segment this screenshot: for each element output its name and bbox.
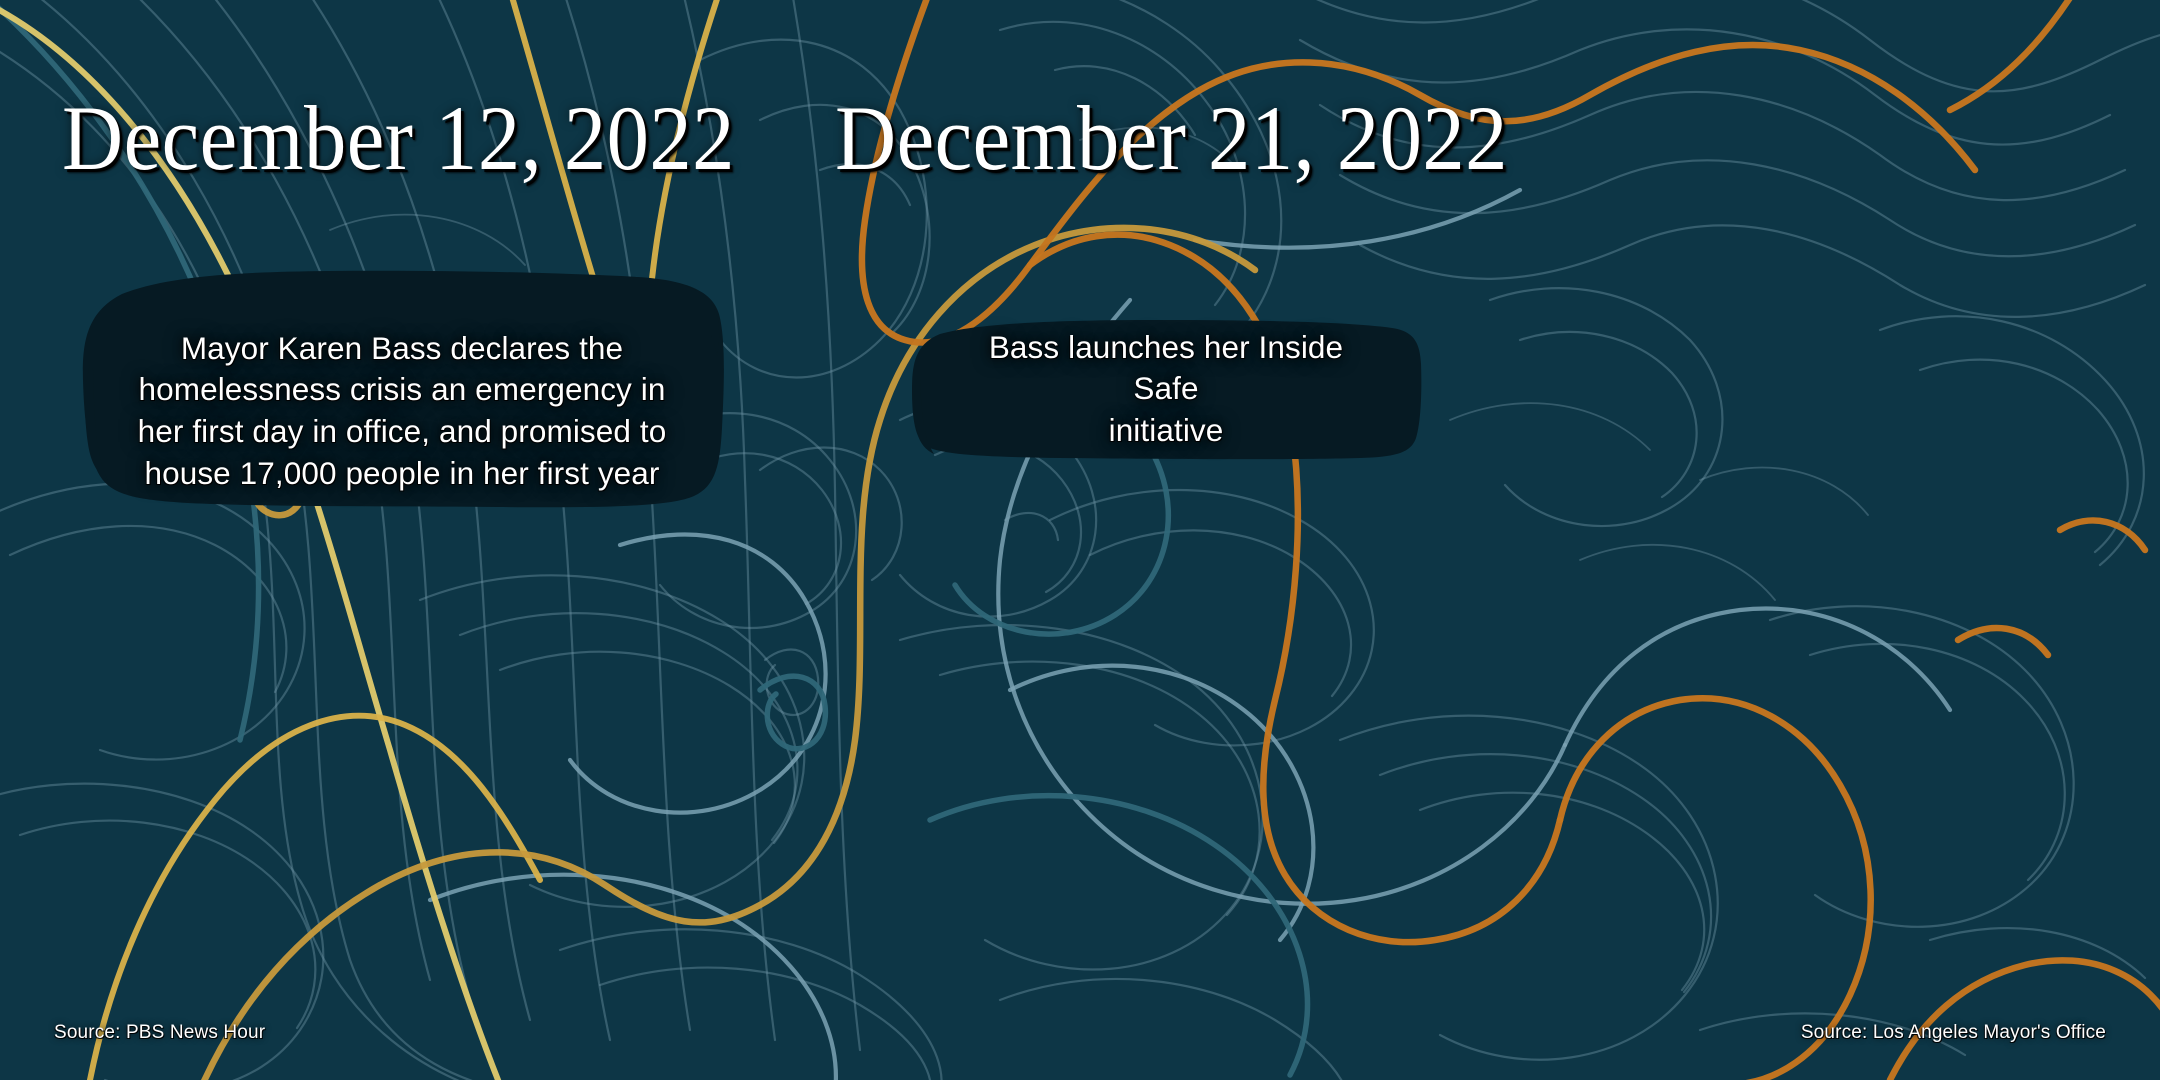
source-caption-left: Source: PBS News Hour bbox=[54, 1022, 265, 1044]
timeline-slide: December 12, 2022 December 21, 2022 Mayo… bbox=[0, 0, 2160, 1080]
card-left-line-1: Mayor Karen Bass declares the bbox=[181, 328, 623, 370]
date-heading-right: December 21, 2022 bbox=[835, 92, 1508, 184]
card-left-line-3: her first day in office, and promised to bbox=[138, 411, 667, 453]
card-right-line-1: Bass launches her Inside Safe bbox=[956, 327, 1376, 410]
source-caption-right: Source: Los Angeles Mayor's Office bbox=[1801, 1022, 2106, 1044]
event-card-left-text: Mayor Karen Bass declares the homelessne… bbox=[78, 268, 726, 508]
card-right-line-2: initiative bbox=[1109, 410, 1224, 452]
event-card-left: Mayor Karen Bass declares the homelessne… bbox=[78, 268, 726, 508]
date-heading-left: December 12, 2022 bbox=[62, 92, 735, 184]
event-card-right: Bass launches her Inside Safe initiative bbox=[910, 318, 1422, 460]
event-card-right-text: Bass launches her Inside Safe initiative bbox=[910, 318, 1422, 460]
card-left-line-4: house 17,000 people in her first year bbox=[144, 453, 659, 495]
card-left-line-2: homelessness crisis an emergency in bbox=[139, 369, 666, 411]
